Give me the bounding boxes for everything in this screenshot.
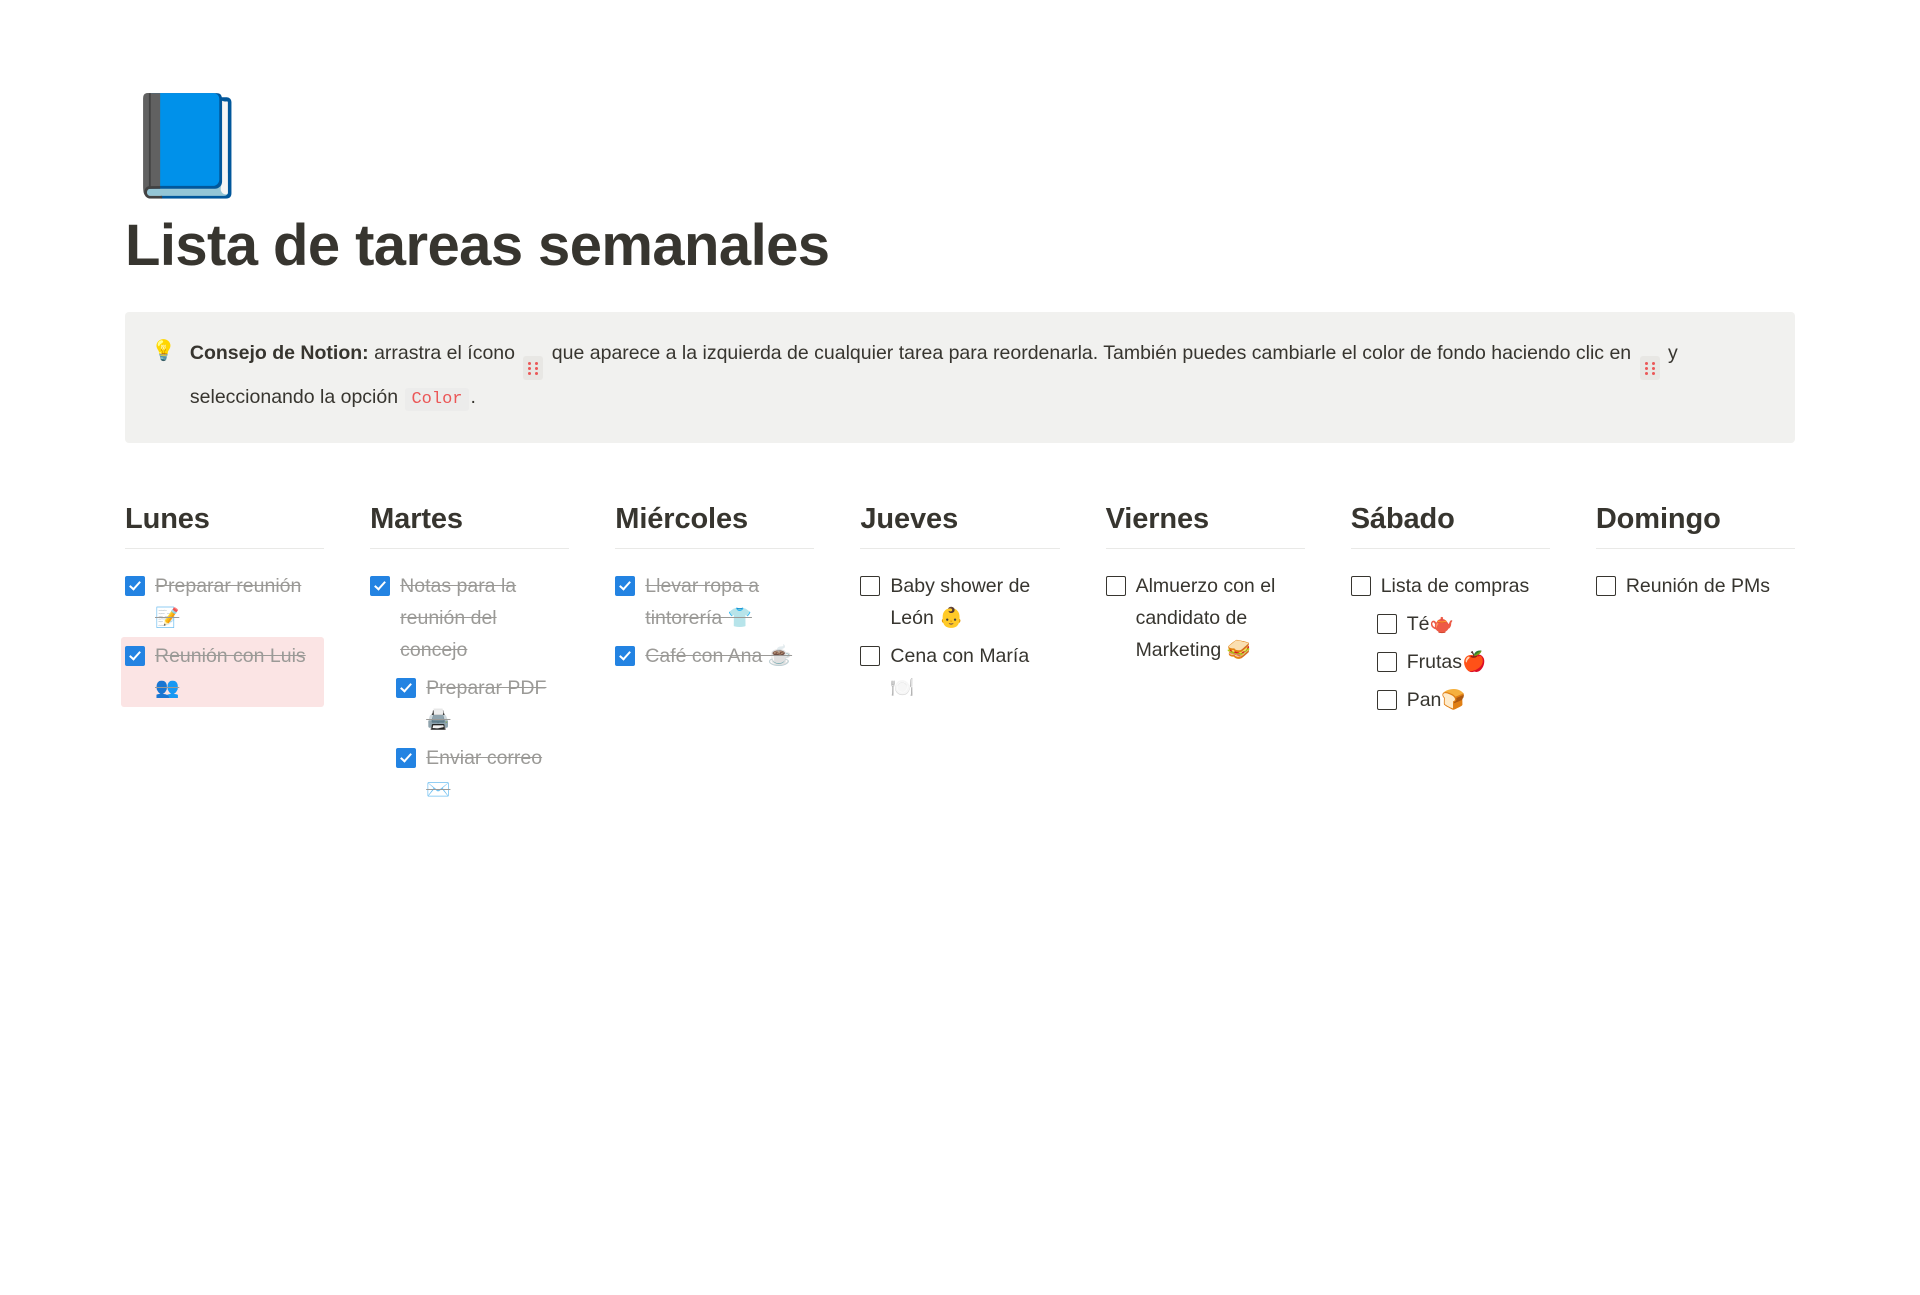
day-column: ViernesAlmuerzo con el candidato de Mark… <box>1106 501 1305 668</box>
todo-label[interactable]: Lista de compras <box>1381 570 1546 602</box>
divider <box>615 548 814 549</box>
day-column: JuevesBaby shower de León 👶Cena con Marí… <box>860 501 1059 706</box>
todo-item[interactable]: Preparar reunión 📝 <box>125 567 324 637</box>
page-icon-blue-book-emoji[interactable]: 📘 <box>125 96 1795 208</box>
todo-label[interactable]: Notas para la reunión del concejo <box>400 570 565 666</box>
checkbox-checked-icon[interactable] <box>370 576 390 596</box>
checkbox-unchecked-icon[interactable] <box>1377 614 1397 634</box>
checkbox-unchecked-icon[interactable] <box>1596 576 1616 596</box>
callout-text-2: que aparece a la izquierda de cualquier … <box>546 342 1636 364</box>
todo-item[interactable]: Reunión de PMs <box>1596 567 1795 605</box>
day-heading[interactable]: Miércoles <box>615 501 814 537</box>
day-column: MartesNotas para la reunión del concejoP… <box>370 501 569 808</box>
todo-label[interactable]: Cena con María 🍽️ <box>890 640 1055 704</box>
day-heading[interactable]: Lunes <box>125 501 324 537</box>
checkbox-unchecked-icon[interactable] <box>1106 576 1126 596</box>
todo-item[interactable]: Notas para la reunión del concejo <box>370 567 569 669</box>
todo-label[interactable]: Llevar ropa a tintorería 👕 <box>645 570 810 634</box>
checkbox-checked-icon[interactable] <box>125 576 145 596</box>
todo-label[interactable]: Pan🍞 <box>1407 684 1546 716</box>
day-column: LunesPreparar reunión 📝Reunión con Luis … <box>125 501 324 706</box>
todo-item[interactable]: Baby shower de León 👶 <box>860 567 1059 637</box>
todo-item[interactable]: Preparar PDF 🖨️ <box>396 669 569 739</box>
todo-label[interactable]: Frutas🍎 <box>1407 646 1546 678</box>
checkbox-checked-icon[interactable] <box>615 646 635 666</box>
day-column: DomingoReunión de PMs <box>1596 501 1795 604</box>
todo-item[interactable]: Té🫖 <box>1377 605 1550 643</box>
todo-label[interactable]: Enviar correo ✉️ <box>426 742 565 806</box>
todo-item[interactable]: Frutas🍎 <box>1377 643 1550 681</box>
todo-item[interactable]: Lista de compras <box>1351 567 1550 605</box>
day-heading[interactable]: Jueves <box>860 501 1059 537</box>
day-column: SábadoLista de comprasTé🫖Frutas🍎Pan🍞 <box>1351 501 1550 718</box>
todo-item[interactable]: Llevar ropa a tintorería 👕 <box>615 567 814 637</box>
todo-label[interactable]: Preparar reunión 📝 <box>155 570 320 634</box>
todo-item[interactable]: Cena con María 🍽️ <box>860 637 1059 707</box>
day-heading[interactable]: Viernes <box>1106 501 1305 537</box>
divider <box>1351 548 1550 549</box>
day-column: MiércolesLlevar ropa a tintorería 👕Café … <box>615 501 814 674</box>
checkbox-unchecked-icon[interactable] <box>860 646 880 666</box>
drag-handle-icon-2[interactable] <box>1640 356 1660 380</box>
checkbox-checked-icon[interactable] <box>396 748 416 768</box>
checkbox-checked-icon[interactable] <box>125 646 145 666</box>
todo-label[interactable]: Reunión con Luis 👥 <box>155 640 320 704</box>
divider <box>860 548 1059 549</box>
checkbox-unchecked-icon[interactable] <box>1377 652 1397 672</box>
day-heading[interactable]: Sábado <box>1351 501 1550 537</box>
page-title[interactable]: Lista de tareas semanales <box>125 214 1795 278</box>
checkbox-unchecked-icon[interactable] <box>860 576 880 596</box>
todo-item[interactable]: Café con Ana ☕ <box>615 637 814 675</box>
todo-label[interactable]: Reunión de PMs <box>1626 570 1791 602</box>
notion-page: 📘 Lista de tareas semanales 💡 Consejo de… <box>0 96 1920 809</box>
inline-code-color: Color <box>405 388 468 411</box>
checkbox-checked-icon[interactable] <box>396 678 416 698</box>
todo-label[interactable]: Almuerzo con el candidato de Marketing 🥪 <box>1136 570 1301 666</box>
divider <box>1596 548 1795 549</box>
checkbox-checked-icon[interactable] <box>615 576 635 596</box>
callout-block[interactable]: 💡 Consejo de Notion: arrastra el ícono q… <box>125 312 1795 444</box>
callout-text-1: arrastra el ícono <box>369 342 521 364</box>
todo-item[interactable]: Reunión con Luis 👥 <box>121 637 324 707</box>
light-bulb-icon: 💡 <box>151 336 176 366</box>
drag-handle-icon-1[interactable] <box>523 356 543 380</box>
callout-text: Consejo de Notion: arrastra el ícono que… <box>190 336 1767 418</box>
todo-label[interactable]: Preparar PDF 🖨️ <box>426 672 565 736</box>
todo-item[interactable]: Pan🍞 <box>1377 681 1550 719</box>
callout-lead: Consejo de Notion: <box>190 342 369 364</box>
divider <box>1106 548 1305 549</box>
day-heading[interactable]: Domingo <box>1596 501 1795 537</box>
divider <box>370 548 569 549</box>
todo-label[interactable]: Té🫖 <box>1407 608 1546 640</box>
week-columns: LunesPreparar reunión 📝Reunión con Luis … <box>125 501 1795 808</box>
todo-label[interactable]: Café con Ana ☕ <box>645 640 810 672</box>
todo-item[interactable]: Almuerzo con el candidato de Marketing 🥪 <box>1106 567 1305 669</box>
todo-item[interactable]: Enviar correo ✉️ <box>396 739 569 809</box>
checkbox-unchecked-icon[interactable] <box>1351 576 1371 596</box>
day-heading[interactable]: Martes <box>370 501 569 537</box>
divider <box>125 548 324 549</box>
todo-label[interactable]: Baby shower de León 👶 <box>890 570 1055 634</box>
callout-text-4: . <box>471 386 476 408</box>
checkbox-unchecked-icon[interactable] <box>1377 690 1397 710</box>
